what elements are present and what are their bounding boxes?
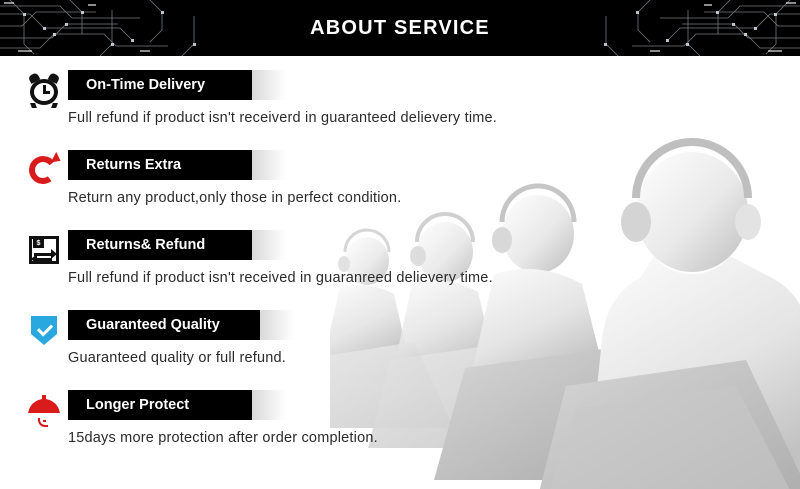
umbrella-icon (26, 392, 62, 428)
feature-description: Full refund if product isn't received in… (68, 270, 493, 286)
feature-guaranteed-quality: Guaranteed Quality Guaranteed quality or… (0, 310, 640, 390)
label-tail (252, 70, 286, 100)
refund-box-icon: $ (26, 232, 62, 268)
alarm-clock-icon (26, 72, 62, 108)
feature-longer-protect: Longer Protect 15days more protection af… (0, 390, 640, 470)
feature-description: Full refund if product isn't receiverd i… (68, 110, 497, 126)
return-arrow-icon (26, 152, 62, 188)
about-service-banner: ABOUT SERVICE On-Time Delivery Full refu… (0, 0, 800, 489)
feature-description: 15days more protection after order compl… (68, 430, 378, 446)
shield-check-icon (26, 312, 62, 348)
page-title: ABOUT SERVICE (0, 0, 800, 56)
label-tail (252, 390, 286, 420)
feature-on-time-delivery: On-Time Delivery Full refund if product … (0, 70, 640, 150)
feature-returns-extra: Returns Extra Return any product,only th… (0, 150, 640, 230)
service-feature-list: On-Time Delivery Full refund if product … (0, 56, 640, 489)
feature-description: Return any product,only those in perfect… (68, 190, 401, 206)
label-tail (260, 310, 294, 340)
label-tail (252, 230, 286, 260)
feature-description: Guaranteed quality or full refund. (68, 350, 286, 366)
label-tail (252, 150, 286, 180)
header-bar: ABOUT SERVICE (0, 0, 800, 56)
feature-returns-and-refund: $ Returns& Refund Full refund if product… (0, 230, 640, 310)
